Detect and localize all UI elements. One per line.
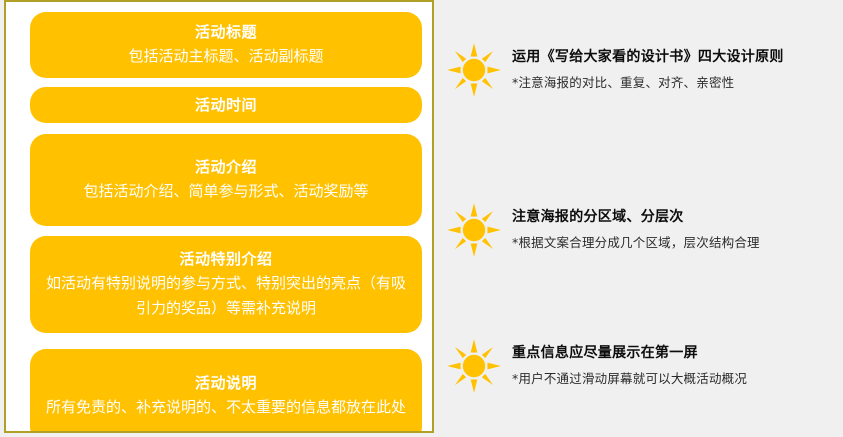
design-tips-panel: 运用《写给大家看的设计书》四大设计原则 *注意海报的对比、重复、对齐、亲密性 注… [438, 0, 843, 437]
card-title: 活动标题 [42, 21, 410, 44]
tip-heading: 运用《写给大家看的设计书》四大设计原则 [512, 46, 841, 68]
content-card-activity-special-intro[interactable]: 活动特别介绍 如活动有特别说明的参与方式、特别突出的亮点（有吸引力的奖品）等需补… [30, 236, 422, 333]
tip-text-block: 注意海报的分区域、分层次 *根据文案合理分成几个区域，层次结构合理 [512, 206, 841, 254]
tip-subtext: *注意海报的对比、重复、对齐、亲密性 [512, 72, 841, 94]
content-card-activity-time[interactable]: 活动时间 [30, 87, 422, 123]
card-title: 活动特别介绍 [42, 248, 410, 271]
tip-item[interactable]: 重点信息应尽量展示在第一屏 *用户不通过滑动屏幕就可以大概活动概况 [446, 338, 841, 394]
sun-icon [446, 338, 502, 394]
card-description: 所有免责的、补充说明的、不太重要的信息都放在此处 [42, 395, 410, 420]
sun-icon [446, 42, 502, 98]
tip-subtext: *根据文案合理分成几个区域，层次结构合理 [512, 232, 841, 254]
card-description: 包括活动主标题、活动副标题 [42, 44, 410, 69]
card-description: 如活动有特别说明的参与方式、特别突出的亮点（有吸引力的奖品）等需补充说明 [42, 271, 410, 321]
tip-heading: 注意海报的分区域、分层次 [512, 206, 841, 228]
tip-subtext: *用户不通过滑动屏幕就可以大概活动概况 [512, 368, 841, 390]
slide-root: 活动标题 包括活动主标题、活动副标题 活动时间 活动介绍 包括活动介绍、简单参与… [0, 0, 843, 437]
tip-text-block: 运用《写给大家看的设计书》四大设计原则 *注意海报的对比、重复、对齐、亲密性 [512, 46, 841, 94]
content-card-activity-intro[interactable]: 活动介绍 包括活动介绍、简单参与形式、活动奖励等 [30, 134, 422, 226]
tip-item[interactable]: 注意海报的分区域、分层次 *根据文案合理分成几个区域，层次结构合理 [446, 202, 841, 258]
card-title: 活动介绍 [42, 156, 410, 179]
content-card-activity-title[interactable]: 活动标题 包括活动主标题、活动副标题 [30, 12, 422, 78]
tip-item[interactable]: 运用《写给大家看的设计书》四大设计原则 *注意海报的对比、重复、对齐、亲密性 [446, 42, 841, 98]
card-title: 活动时间 [42, 87, 410, 123]
content-card-activity-notes[interactable]: 活动说明 所有免责的、补充说明的、不太重要的信息都放在此处 [30, 349, 422, 433]
card-title: 活动说明 [42, 372, 410, 395]
sun-icon [446, 202, 502, 258]
tip-text-block: 重点信息应尽量展示在第一屏 *用户不通过滑动屏幕就可以大概活动概况 [512, 342, 841, 390]
tip-heading: 重点信息应尽量展示在第一屏 [512, 342, 841, 364]
card-stack: 活动标题 包括活动主标题、活动副标题 活动时间 活动介绍 包括活动介绍、简单参与… [6, 2, 432, 431]
poster-structure-panel: 活动标题 包括活动主标题、活动副标题 活动时间 活动介绍 包括活动介绍、简单参与… [4, 0, 434, 433]
card-description: 包括活动介绍、简单参与形式、活动奖励等 [42, 179, 410, 204]
